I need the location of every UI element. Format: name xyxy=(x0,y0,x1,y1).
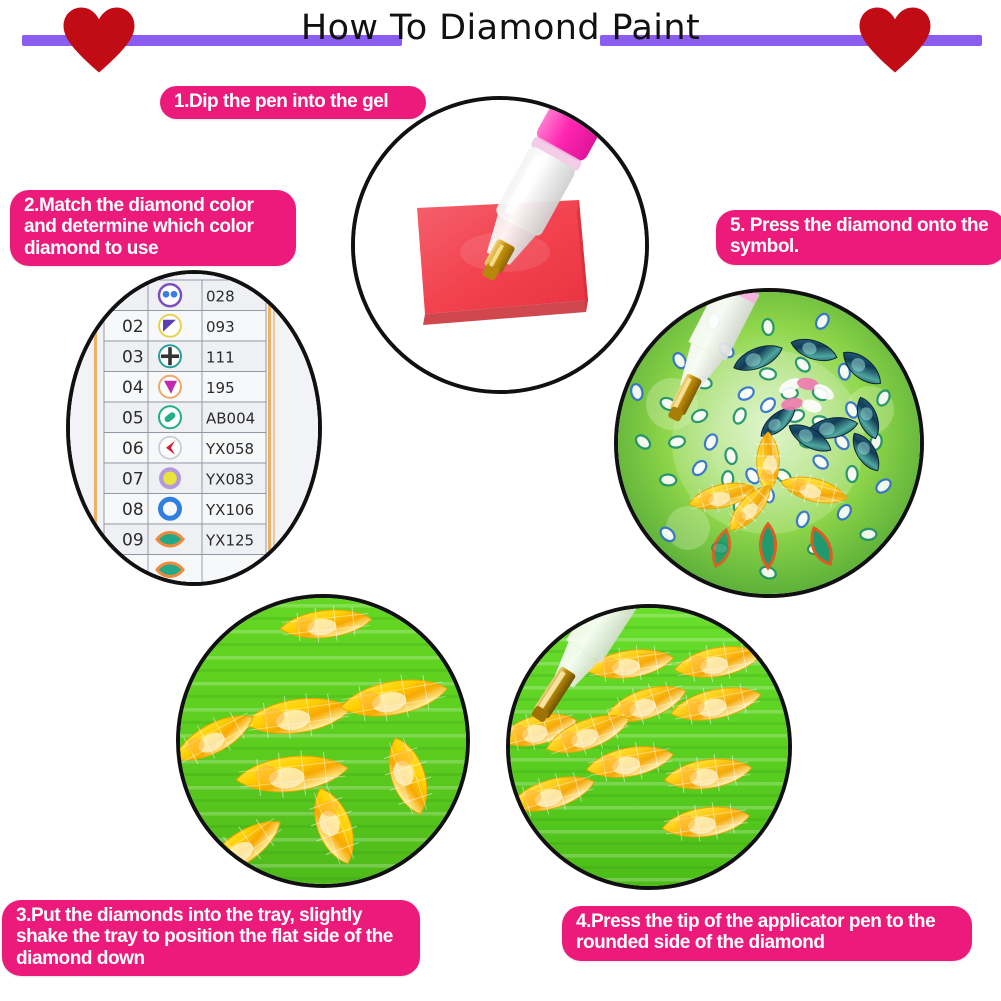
step-5-label: 5. Press the diamond onto the symbol. xyxy=(716,210,1001,265)
chart-symbol-slanted-capsule xyxy=(159,406,181,428)
chart-row-code: 093 xyxy=(206,318,235,336)
step-3-label: 3.Put the diamonds into the tray, slight… xyxy=(2,900,420,976)
chart-row-code: YX106 xyxy=(205,501,254,519)
chart-row-number: 04 xyxy=(122,378,144,398)
chart-row-number: 02 xyxy=(122,317,144,337)
chart-row-code: YX125 xyxy=(205,531,254,549)
chart-row-code: YX058 xyxy=(205,440,254,458)
chart-symbol-leaf-lens xyxy=(157,533,183,547)
chart-row-number: 08 xyxy=(122,500,144,520)
chart-row-code: 195 xyxy=(206,379,235,397)
step-4-photo xyxy=(506,604,792,890)
chart-row-code: AB004 xyxy=(206,409,255,427)
diamond-color-chart: 02802093031110419505AB00406YX05807YX0830… xyxy=(70,274,318,582)
step-2-photo: 02802093031110419505AB00406YX05807YX0830… xyxy=(66,270,322,586)
chart-row-code: YX083 xyxy=(205,470,254,488)
chart-symbol-triangle-corner xyxy=(159,315,181,337)
chart-row-number: 07 xyxy=(122,469,144,489)
chart-symbol-filled-dot-ring xyxy=(159,467,181,489)
step-1-photo xyxy=(351,96,649,394)
chart-row-code: 028 xyxy=(206,287,235,305)
chart-symbol-leaf-lens xyxy=(157,563,183,577)
chart-row-number: 05 xyxy=(122,408,144,428)
page-title: How To Diamond Paint xyxy=(0,8,1001,48)
step-3-photo xyxy=(176,594,470,888)
chart-symbol-left-chevron xyxy=(159,437,181,459)
chart-symbol-circle-two-dots xyxy=(159,284,181,306)
chart-row-code: 111 xyxy=(206,348,235,366)
chart-row-number: 09 xyxy=(122,530,144,550)
step-5-photo xyxy=(614,288,924,598)
step-1-label: 1.Dip the pen into the gel xyxy=(160,86,426,119)
page-header: How To Diamond Paint xyxy=(0,0,1001,80)
chart-symbol-triangle-filled xyxy=(159,376,181,398)
chart-row-number: 03 xyxy=(122,347,144,367)
chart-symbol-plus-cross xyxy=(159,345,181,367)
step-4-label: 4.Press the tip of the applicator pen to… xyxy=(562,906,972,961)
step-2-label: 2.Match the diamond color and determine … xyxy=(10,190,296,266)
chart-row-number: 06 xyxy=(122,439,144,459)
